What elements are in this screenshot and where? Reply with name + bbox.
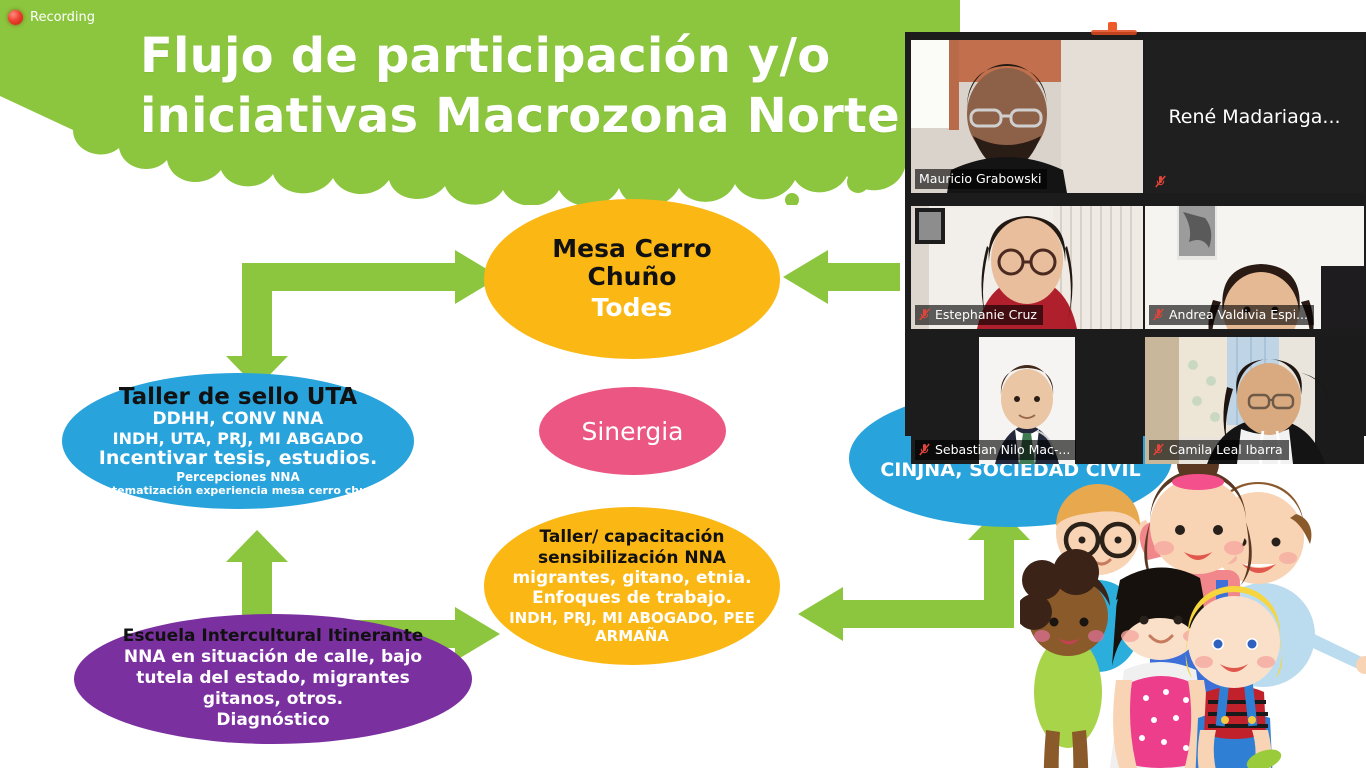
node-uta-line4: Incentivar tesis, estudios. [76, 448, 400, 470]
mic-off-icon [919, 443, 930, 456]
node-cap-line3: migrantes, gitano, etnia. [498, 568, 766, 588]
recording-dot-icon [8, 10, 23, 25]
mic-off-icon [1155, 175, 1166, 188]
node-escuela-line3: tutela del estado, migrantes [88, 668, 458, 689]
node-escuela-line4: gitanos, otros. [88, 689, 458, 710]
node-escuela-line5: Diagnóstico [88, 710, 458, 731]
video-tile-andrea[interactable]: Andrea Valdivia Espi... [1145, 206, 1364, 329]
video-tile-sebastian[interactable]: Sebastian Nilo Mac-... [911, 337, 1143, 464]
node-sinergia: Sinergia [539, 387, 726, 475]
slide-stage: Recording Flujo de participación y/o ini… [0, 0, 1366, 768]
title-line-1: Flujo de participación y/o [140, 26, 900, 86]
node-escuela-intercultural: Escuela Intercultural Itinerante NNA en … [74, 614, 472, 744]
node-uta-line1: Taller de sello UTA [76, 385, 400, 410]
participant-name-chip: Andrea Valdivia Espi... [1149, 305, 1314, 325]
participant-name-chip: Sebastian Nilo Mac-... [915, 440, 1076, 460]
participant-name-chip: Mauricio Grabowski [915, 169, 1047, 189]
top-record-marker-icon [1108, 22, 1117, 31]
node-taller-capacitacion: Taller/ capacitación sensibilización NNA… [484, 507, 780, 665]
participant-name: Andrea Valdivia Espi... [1169, 307, 1308, 322]
arrow-unicef-to-taller [798, 508, 1030, 641]
node-cap-line5: INDH, PRJ, MI ABOGADO, PEE [498, 609, 766, 627]
participant-mute-chip [1151, 173, 1172, 191]
video-participants-panel[interactable]: Mauricio Grabowski René Madariaga... [905, 32, 1366, 436]
video-tile-rene[interactable]: René Madariaga... [1145, 40, 1364, 193]
video-tile-camila[interactable]: Camila Leal Ibarra [1145, 337, 1364, 464]
participant-name: René Madariaga... [1145, 106, 1364, 128]
node-cap-line2: sensibilización NNA [498, 548, 766, 568]
video-tile-estephanie[interactable]: Estephanie Cruz [911, 206, 1143, 329]
node-taller-sello-uta: Taller de sello UTA DDHH, CONV NNA INDH,… [62, 373, 414, 509]
node-uta-line2: DDHH, CONV NNA [76, 410, 400, 430]
node-uta-line3: INDH, UTA, PRJ, MI ABGADO [76, 430, 400, 448]
node-cap-line4: Enfoques de trabajo. [498, 588, 766, 608]
node-mesa-line3: Todes [498, 293, 766, 323]
node-sinergia-label: Sinergia [553, 417, 712, 446]
mic-off-icon [1153, 308, 1164, 321]
mic-off-icon [919, 308, 930, 321]
children-illustration [1020, 430, 1366, 768]
participant-name-chip: Estephanie Cruz [915, 305, 1043, 325]
title-line-2: iniciativas Macrozona Norte [140, 86, 900, 146]
node-mesa-line2: Chuño [498, 263, 766, 291]
participant-name: Estephanie Cruz [935, 307, 1037, 322]
node-escuela-line1: Escuela Intercultural Itinerante [88, 626, 458, 646]
node-uta-line5: Percepciones NNA [76, 470, 400, 484]
recording-label: Recording [30, 10, 95, 25]
node-mesa-line1: Mesa Cerro [498, 235, 766, 263]
participant-name: Camila Leal Ibarra [1169, 442, 1283, 457]
recording-indicator: Recording [8, 10, 95, 25]
participant-name: Mauricio Grabowski [919, 171, 1041, 186]
node-cap-line1: Taller/ capacitación [498, 527, 766, 547]
page-title: Flujo de participación y/o iniciativas M… [140, 26, 900, 146]
participant-name-chip: Camila Leal Ibarra [1149, 440, 1289, 460]
node-mesa-cerro-chuno: Mesa Cerro Chuño Todes [484, 199, 780, 359]
node-escuela-line2: NNA en situación de calle, bajo [88, 647, 458, 668]
arrow-uta-to-mesa [226, 250, 500, 388]
video-tile-mauricio[interactable]: Mauricio Grabowski [911, 40, 1143, 193]
node-uta-line6: Sistematización experiencia mesa cerro c… [76, 484, 400, 497]
mic-off-icon [1153, 443, 1164, 456]
arrow-right-to-mesa [783, 250, 900, 304]
participant-name: Sebastian Nilo Mac-... [935, 442, 1070, 457]
node-cap-line6: ARMAÑA [498, 627, 766, 645]
